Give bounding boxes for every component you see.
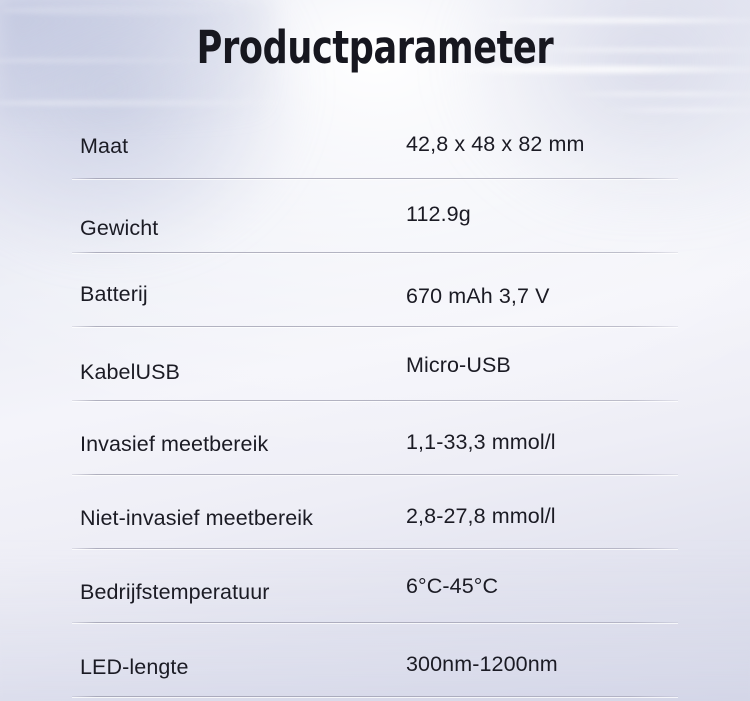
row-divider <box>72 400 678 401</box>
page-title: Productparameter <box>83 24 668 73</box>
spec-label: Batterij <box>80 282 148 307</box>
spec-label: Niet-invasief meetbereik <box>80 506 313 531</box>
spec-label: Invasief meetbereik <box>80 432 268 457</box>
table-row: Invasief meetbereik1,1-33,3 mmol/l <box>0 404 750 478</box>
row-divider <box>72 474 678 475</box>
row-divider <box>72 548 678 549</box>
background-light-streak <box>2 6 252 15</box>
spec-value: 112.9g <box>406 202 471 227</box>
spec-value: 6°C-45°C <box>406 574 498 599</box>
table-row: Niet-invasief meetbereik2,8-27,8 mmol/l <box>0 478 750 552</box>
spec-value: 1,1-33,3 mmol/l <box>406 430 556 455</box>
spec-label: Bedrijfstemperatuur <box>80 580 270 605</box>
row-divider <box>72 326 678 327</box>
spec-value: Micro-USB <box>406 353 511 378</box>
table-row: LED-lengte300nm-1200nm <box>0 626 750 700</box>
spec-value: 42,8 x 48 x 82 mm <box>406 132 585 157</box>
table-row: Maat42,8 x 48 x 82 mm <box>0 108 750 182</box>
table-row: KabelUSBMicro-USB <box>0 330 750 404</box>
row-divider <box>72 622 678 623</box>
spec-label: Gewicht <box>80 216 158 241</box>
table-row: Gewicht112.9g <box>0 182 750 256</box>
spec-value: 670 mAh 3,7 V <box>406 284 550 309</box>
table-row: Batterij670 mAh 3,7 V <box>0 256 750 330</box>
background-light-streak <box>0 100 294 106</box>
spec-label: LED-lengte <box>80 655 189 680</box>
row-divider <box>72 696 678 697</box>
spec-label: KabelUSB <box>80 360 180 385</box>
spec-table: Maat42,8 x 48 x 82 mmGewicht112.9gBatter… <box>0 108 750 700</box>
row-divider <box>72 178 678 179</box>
table-row: Bedrijfstemperatuur6°C-45°C <box>0 552 750 626</box>
product-parameter-page: Productparameter Maat42,8 x 48 x 82 mmGe… <box>0 0 750 701</box>
row-divider <box>72 252 678 253</box>
spec-value: 300nm-1200nm <box>406 652 558 677</box>
spec-label: Maat <box>80 134 128 159</box>
spec-value: 2,8-27,8 mmol/l <box>406 504 556 529</box>
